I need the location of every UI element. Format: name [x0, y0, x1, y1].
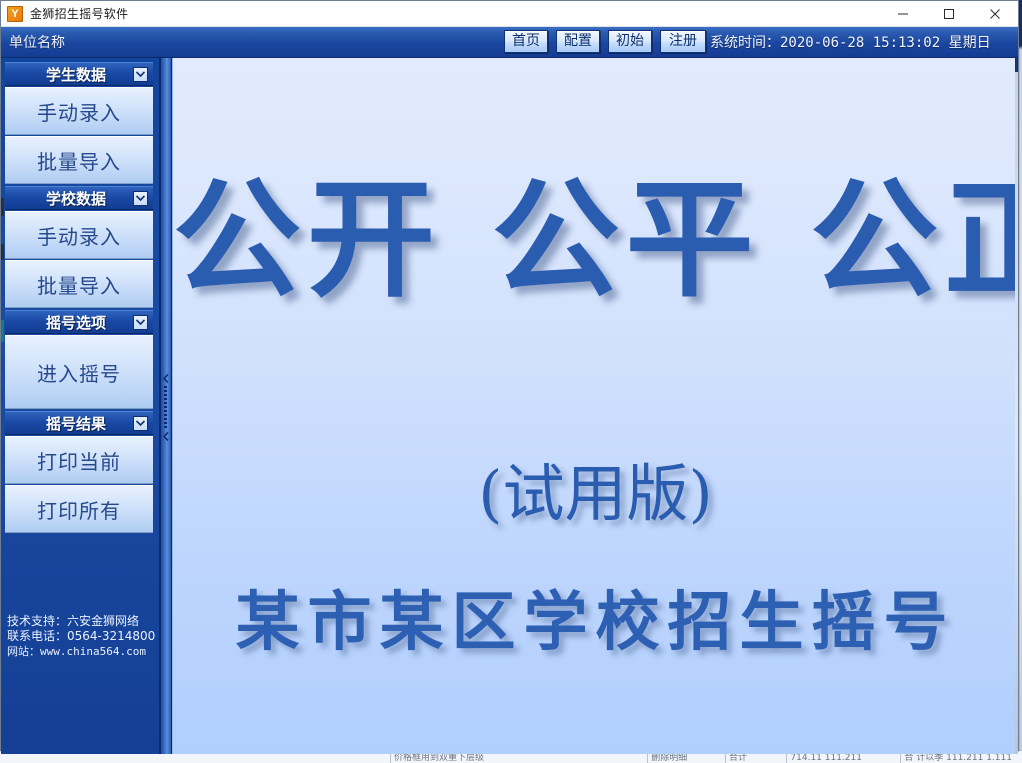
website-line: 网站：www.china564.com — [7, 644, 157, 659]
sidebar-item-student-batch-import[interactable]: 批量导入 — [5, 136, 153, 184]
sidebar-item-label: 进入摇号 — [37, 358, 121, 387]
chevron-down-icon[interactable] — [133, 191, 148, 206]
edge-sliver — [1, 320, 4, 342]
application-window: Y 金狮招生摇号软件 单位名称 首页 配置 初始 注册 — [0, 0, 1019, 751]
maximize-icon[interactable] — [926, 1, 972, 26]
sidebar-item-school-manual-entry[interactable]: 手动录入 — [5, 211, 153, 259]
screen: 价格框用到双重下层级 删除明细 合计 714.11 111.211 合 计以季 … — [0, 0, 1022, 763]
app-logo-icon: Y — [7, 6, 23, 22]
sidebar-group-label: 摇号结果 — [5, 413, 133, 434]
splitter-grip[interactable] — [164, 386, 167, 428]
init-button[interactable]: 初始 — [608, 30, 652, 53]
config-button[interactable]: 配置 — [556, 30, 600, 53]
sidebar-group-header-school-data[interactable]: 学校数据 — [5, 186, 153, 210]
sidebar-item-print-current[interactable]: 打印当前 — [5, 436, 153, 484]
canvas-right-edge — [1015, 58, 1018, 754]
chevron-down-icon[interactable] — [133, 416, 148, 431]
toolbar: 单位名称 首页 配置 初始 注册 系统时间：2020-06-28 15:13:0… — [1, 27, 1018, 58]
window-controls — [880, 1, 1018, 26]
close-icon[interactable] — [972, 1, 1018, 26]
edge-sliver — [1, 244, 4, 260]
chevron-down-icon[interactable] — [133, 67, 148, 82]
support-line: 技术支持：六安金狮网络 — [7, 614, 157, 629]
sidebar-group-header-lottery-options[interactable]: 摇号选项 — [5, 310, 153, 334]
window-body: 学生数据 手动录入 批量导入 学校数据 — [1, 58, 1018, 754]
sidebar-item-label: 手动录入 — [37, 221, 121, 250]
sidebar-group-label: 学校数据 — [5, 188, 133, 209]
sidebar-item-print-all[interactable]: 打印所有 — [5, 485, 153, 533]
sidebar-item-label: 手动录入 — [37, 97, 121, 126]
hero-slogan: 公开 公平 公正 — [173, 176, 1018, 304]
sidebar-item-label: 打印当前 — [37, 446, 121, 475]
main-canvas: 公开 公平 公正 (试用版) 某市某区学校招生摇号 — [172, 58, 1018, 754]
sidebar-item-label: 批量导入 — [37, 270, 121, 299]
home-button[interactable]: 首页 — [504, 30, 548, 53]
toolbar-buttons: 首页 配置 初始 注册 — [504, 30, 706, 53]
sidebar-support-info: 技术支持：六安金狮网络 联系电话：0564-3214800 网站：www.chi… — [7, 614, 157, 659]
sidebar-item-student-manual-entry[interactable]: 手动录入 — [5, 87, 153, 135]
sidebar-item-label: 打印所有 — [37, 495, 121, 524]
sidebar-item-enter-lottery[interactable]: 进入摇号 — [5, 335, 153, 409]
app-title: 金狮招生摇号软件 — [30, 5, 128, 22]
system-time: 系统时间：2020-06-28 15:13:02 星期日 — [710, 32, 991, 52]
title-bar: Y 金狮招生摇号软件 — [1, 1, 1018, 27]
sidebar-splitter[interactable] — [161, 58, 172, 754]
sidebar-item-label: 批量导入 — [37, 146, 121, 175]
unit-name-label: 单位名称 — [9, 32, 65, 52]
trial-version-label: (试用版) — [173, 463, 1018, 525]
sidebar-group-label: 摇号选项 — [5, 312, 133, 333]
minimize-icon[interactable] — [880, 1, 926, 26]
sidebar-item-school-batch-import[interactable]: 批量导入 — [5, 260, 153, 308]
phone-line: 联系电话：0564-3214800 — [7, 629, 157, 644]
page-title: 某市某区学校招生摇号 — [173, 588, 1018, 658]
sidebar: 学生数据 手动录入 批量导入 学校数据 — [1, 58, 161, 754]
chevron-down-icon[interactable] — [133, 315, 148, 330]
collapse-left-icon[interactable] — [162, 374, 170, 383]
collapse-left-icon[interactable] — [162, 432, 170, 441]
sidebar-group-header-student-data[interactable]: 学生数据 — [5, 62, 153, 86]
sidebar-group-label: 学生数据 — [5, 64, 133, 85]
sidebar-group-header-lottery-results[interactable]: 摇号结果 — [5, 411, 153, 435]
edge-sliver — [1, 198, 4, 216]
register-button[interactable]: 注册 — [660, 30, 706, 53]
